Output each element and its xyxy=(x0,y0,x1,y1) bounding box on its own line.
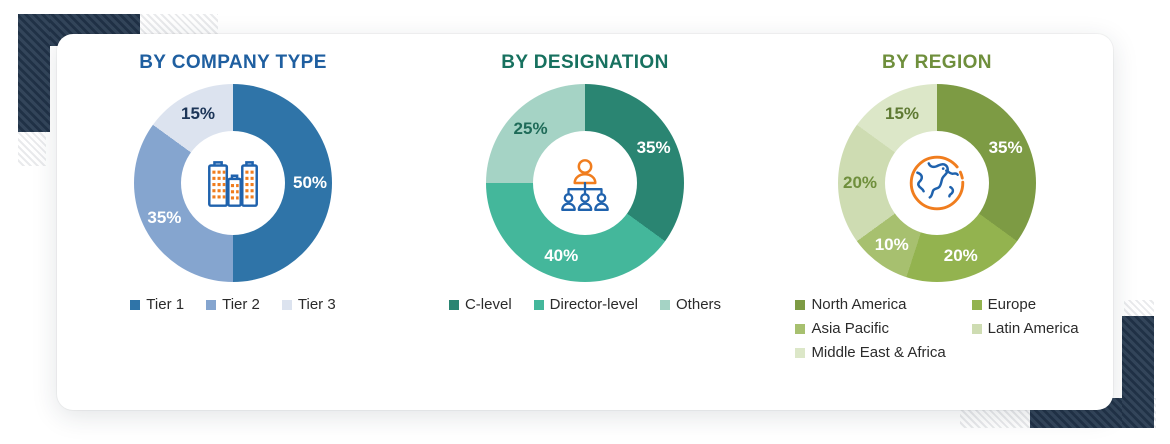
legend-label: Tier 2 xyxy=(222,296,260,313)
globe-icon xyxy=(904,150,970,216)
legend-label: Director-level xyxy=(550,296,638,313)
segment-label-tier-1: 50% xyxy=(293,173,327,193)
panel-by-region: BY REGION 35% 20% 10% 20% xyxy=(761,34,1113,410)
segment-label-tier-3: 15% xyxy=(181,104,215,124)
legend-swatch xyxy=(130,300,140,310)
legend-label: Others xyxy=(676,296,721,313)
donut-chart-company-type: 50% 35% 15% xyxy=(134,84,332,282)
legend-item[interactable]: Latin America xyxy=(972,320,1079,337)
legend-swatch xyxy=(206,300,216,310)
legend-company-type: Tier 1Tier 2Tier 3 xyxy=(130,296,335,313)
legend-swatch xyxy=(449,300,459,310)
decor-hatch-bottom-right-vertical xyxy=(1124,300,1154,428)
donut-chart-designation: 35% 40% 25% xyxy=(486,84,684,282)
donut-center-company-type xyxy=(181,131,285,235)
panel-by-designation: BY DESIGNATION xyxy=(409,34,761,410)
legend-label: Tier 1 xyxy=(146,296,184,313)
legend-item[interactable]: North America xyxy=(795,296,906,313)
legend-label: Middle East & Africa xyxy=(811,344,945,361)
infographic-card: BY COMPANY TYPE xyxy=(57,34,1113,410)
legend-swatch xyxy=(795,324,805,334)
panel-title-designation: BY DESIGNATION xyxy=(501,52,668,74)
legend-label: Asia Pacific xyxy=(811,320,889,337)
donut-center-designation xyxy=(533,131,637,235)
legend-item[interactable]: Tier 2 xyxy=(206,296,260,313)
legend-item[interactable]: Tier 1 xyxy=(130,296,184,313)
legend-label: Tier 3 xyxy=(298,296,336,313)
legend-swatch xyxy=(972,300,982,310)
legend-item[interactable]: Director-level xyxy=(534,296,638,313)
legend-label: Europe xyxy=(988,296,1036,313)
legend-item[interactable]: Middle East & Africa xyxy=(795,344,945,361)
legend-designation: C-levelDirector-levelOthers xyxy=(449,296,721,313)
segment-label-others: 25% xyxy=(514,119,548,139)
org-hierarchy-icon xyxy=(552,150,618,216)
legend-item[interactable]: C-level xyxy=(449,296,512,313)
legend-swatch xyxy=(972,324,982,334)
decor-hatch-top-left-vertical xyxy=(18,46,46,166)
legend-swatch xyxy=(660,300,670,310)
legend-item[interactable]: Asia Pacific xyxy=(795,320,889,337)
decor-navy-bar-top-left-vertical xyxy=(18,14,50,132)
legend-item[interactable]: Tier 3 xyxy=(282,296,336,313)
legend-label: North America xyxy=(811,296,906,313)
legend-swatch xyxy=(282,300,292,310)
panel-title-company-type: BY COMPANY TYPE xyxy=(139,52,327,74)
legend-region: North AmericaEuropeAsia PacificLatin Ame… xyxy=(795,296,1078,361)
segment-label-tier-2: 35% xyxy=(147,208,181,228)
panel-by-company-type: BY COMPANY TYPE xyxy=(57,34,409,410)
panel-title-region: BY REGION xyxy=(882,52,992,74)
legend-swatch xyxy=(795,300,805,310)
donut-center-region xyxy=(885,131,989,235)
legend-label: C-level xyxy=(465,296,512,313)
legend-swatch xyxy=(795,348,805,358)
office-buildings-icon xyxy=(200,150,266,216)
legend-label: Latin America xyxy=(988,320,1079,337)
legend-item[interactable]: Europe xyxy=(972,296,1036,313)
segment-label-europe: 20% xyxy=(944,246,978,266)
segment-label-director-level: 40% xyxy=(544,246,578,266)
segment-label-c-level: 35% xyxy=(637,138,671,158)
segment-label-latin-america: 20% xyxy=(843,173,877,193)
segment-label-middle-east-africa: 15% xyxy=(885,104,919,124)
segment-label-asia-pacific: 10% xyxy=(875,235,909,255)
legend-item[interactable]: Others xyxy=(660,296,721,313)
donut-chart-region: 35% 20% 10% 20% 15% xyxy=(838,84,1036,282)
legend-swatch xyxy=(534,300,544,310)
decor-navy-bar-bottom-right-vertical xyxy=(1122,316,1154,428)
segment-label-north-america: 35% xyxy=(989,138,1023,158)
